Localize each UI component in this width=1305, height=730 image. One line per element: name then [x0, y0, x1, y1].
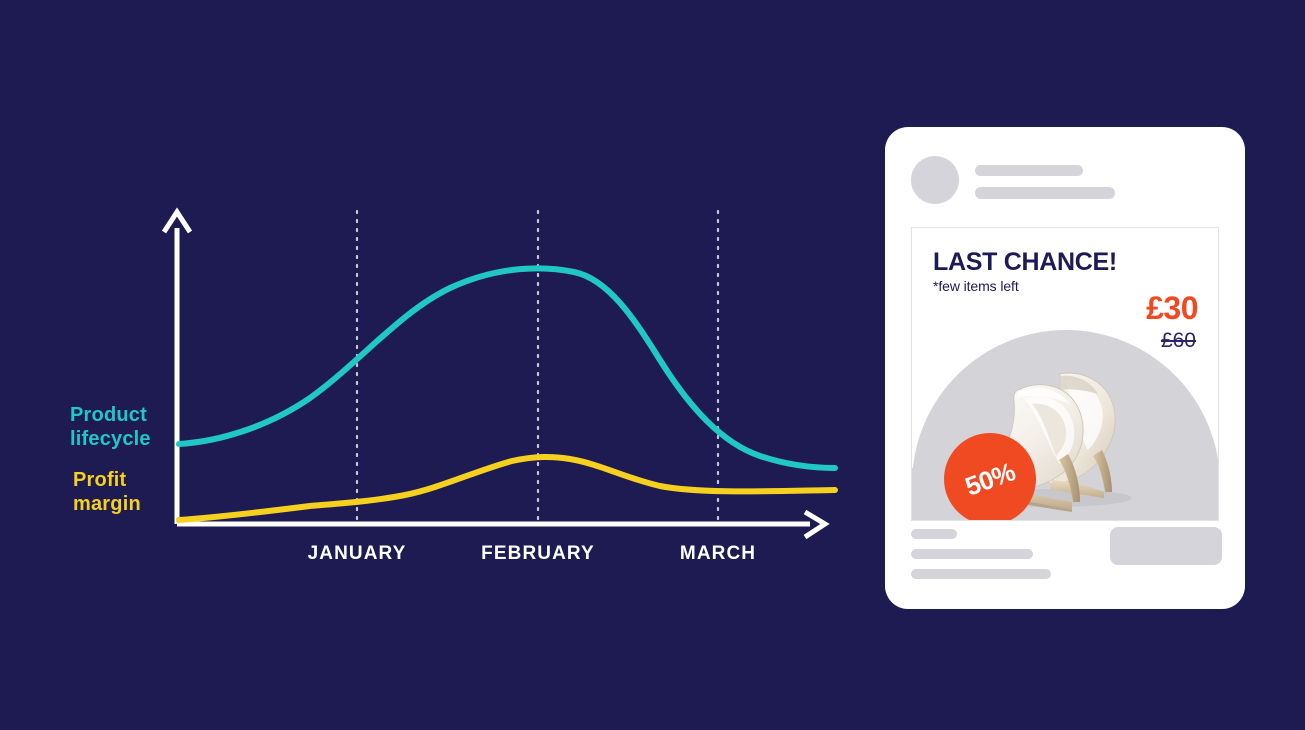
- discount-badge: 50%: [944, 433, 1036, 521]
- lifecycle-chart: [0, 0, 860, 730]
- axis-label-march: MARCH: [618, 543, 818, 565]
- chart-panel: Product lifecycle Profit margin JANUARY …: [0, 0, 860, 730]
- product-card[interactable]: LAST CHANCE! *few items left £30 £60 50%: [885, 127, 1245, 609]
- cta-button[interactable]: [1110, 527, 1222, 565]
- series-profit-margin: [179, 457, 835, 520]
- series-product-lifecycle: [179, 268, 835, 468]
- price-original: £60: [1161, 329, 1196, 353]
- legend-product-lifecycle: Product lifecycle: [70, 403, 151, 451]
- promo-subtitle: *few items left: [933, 278, 1019, 294]
- discount-badge-label: 50%: [961, 456, 1019, 502]
- promo-title: LAST CHANCE!: [933, 248, 1117, 277]
- footer-placeholder-bar: [911, 529, 957, 539]
- avatar: [911, 156, 959, 204]
- price-current: £30: [1146, 290, 1198, 327]
- legend-profit-margin: Profit margin: [73, 468, 141, 516]
- card-header: [911, 154, 1221, 210]
- card-footer: [911, 529, 1221, 581]
- axis-label-february: FEBRUARY: [438, 543, 638, 565]
- axis-label-january: JANUARY: [257, 543, 457, 565]
- promo-image-panel[interactable]: LAST CHANCE! *few items left £30 £60 50%: [911, 227, 1219, 521]
- footer-placeholder-bar: [911, 549, 1033, 559]
- header-placeholder-bar: [975, 187, 1115, 199]
- header-placeholder-bar: [975, 165, 1083, 176]
- footer-placeholder-bar: [911, 569, 1051, 579]
